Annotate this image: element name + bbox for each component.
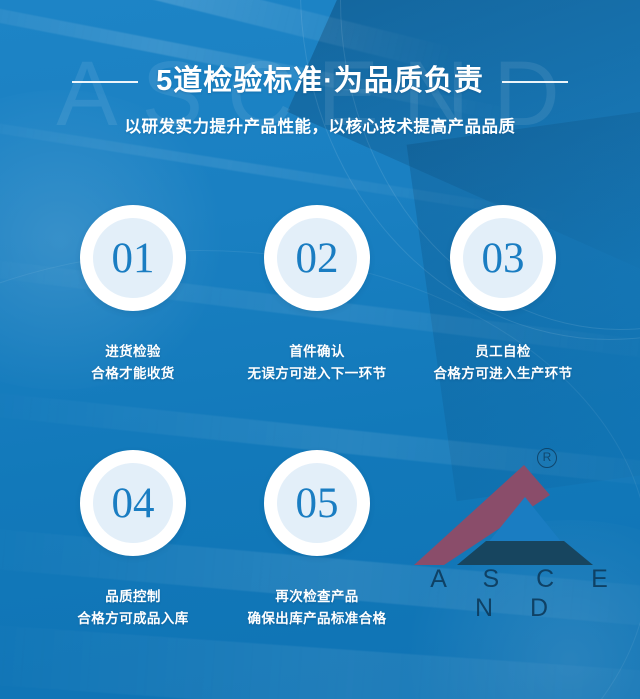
title-rule-left <box>72 81 138 83</box>
step-line1-02: 首件确认 <box>225 341 409 363</box>
step-item-02: 02 首件确认 无误方可进入下一环节 <box>225 205 409 386</box>
step-line2-04: 合格方可成品入库 <box>41 608 225 630</box>
title-row: 5道检验标准·为品质负责 <box>0 66 640 98</box>
step-labels-05: 再次检查产品 确保出库产品标准合格 <box>225 586 409 631</box>
step-line1-05: 再次检查产品 <box>225 586 409 608</box>
promo-banner: ASCEND 5道检验标准·为品质负责 以研发实力提升产品性能，以核心技术提高产… <box>0 0 640 699</box>
step-number-05: 05 <box>296 482 339 525</box>
step-circle-inner-04: 04 <box>93 463 173 543</box>
step-item-03: 03 员工自检 合格方可进入生产环节 <box>411 205 595 386</box>
step-line1-04: 品质控制 <box>41 586 225 608</box>
step-circle-inner-01: 01 <box>93 218 173 298</box>
header: 5道检验标准·为品质负责 以研发实力提升产品性能，以核心技术提高产品品质 <box>0 66 640 137</box>
background-ray-1 <box>0 0 454 73</box>
step-circle-04: 04 <box>80 450 186 556</box>
step-number-01: 01 <box>112 237 155 280</box>
step-line1-03: 员工自检 <box>411 341 595 363</box>
logo-wordmark: A S C E N D <box>412 565 626 623</box>
step-item-05: 05 再次检查产品 确保出库产品标准合格 <box>225 450 409 631</box>
step-number-02: 02 <box>296 237 339 280</box>
step-circle-inner-03: 03 <box>463 218 543 298</box>
registered-trademark-icon: R <box>537 448 557 468</box>
step-labels-03: 员工自检 合格方可进入生产环节 <box>411 341 595 386</box>
background-ray-7 <box>0 621 640 699</box>
ascend-logo: R A S C E N D <box>408 443 630 603</box>
step-labels-01: 进货检验 合格才能收货 <box>41 341 225 386</box>
step-labels-04: 品质控制 合格方可成品入库 <box>41 586 225 631</box>
step-number-03: 03 <box>482 237 525 280</box>
step-item-04: 04 品质控制 合格方可成品入库 <box>41 450 225 631</box>
step-line2-05: 确保出库产品标准合格 <box>225 608 409 630</box>
step-item-01: 01 进货检验 合格才能收货 <box>41 205 225 386</box>
step-number-04: 04 <box>112 482 155 525</box>
step-circle-inner-05: 05 <box>277 463 357 543</box>
step-circle-05: 05 <box>264 450 370 556</box>
step-circle-inner-02: 02 <box>277 218 357 298</box>
step-circle-03: 03 <box>450 205 556 311</box>
step-line1-01: 进货检验 <box>41 341 225 363</box>
step-line2-02: 无误方可进入下一环节 <box>225 363 409 385</box>
step-line2-03: 合格方可进入生产环节 <box>411 363 595 385</box>
page-title: 5道检验标准·为品质负责 <box>156 66 484 98</box>
step-circle-01: 01 <box>80 205 186 311</box>
step-line2-01: 合格才能收货 <box>41 363 225 385</box>
title-rule-right <box>502 81 568 83</box>
step-labels-02: 首件确认 无误方可进入下一环节 <box>225 341 409 386</box>
steps-row-1: 01 进货检验 合格才能收货 02 首件确认 无误方可进入下一环节 03 <box>0 205 640 386</box>
logo-base-trapezoid <box>457 541 593 565</box>
page-subtitle: 以研发实力提升产品性能，以核心技术提高产品品质 <box>0 113 640 137</box>
step-circle-02: 02 <box>264 205 370 311</box>
